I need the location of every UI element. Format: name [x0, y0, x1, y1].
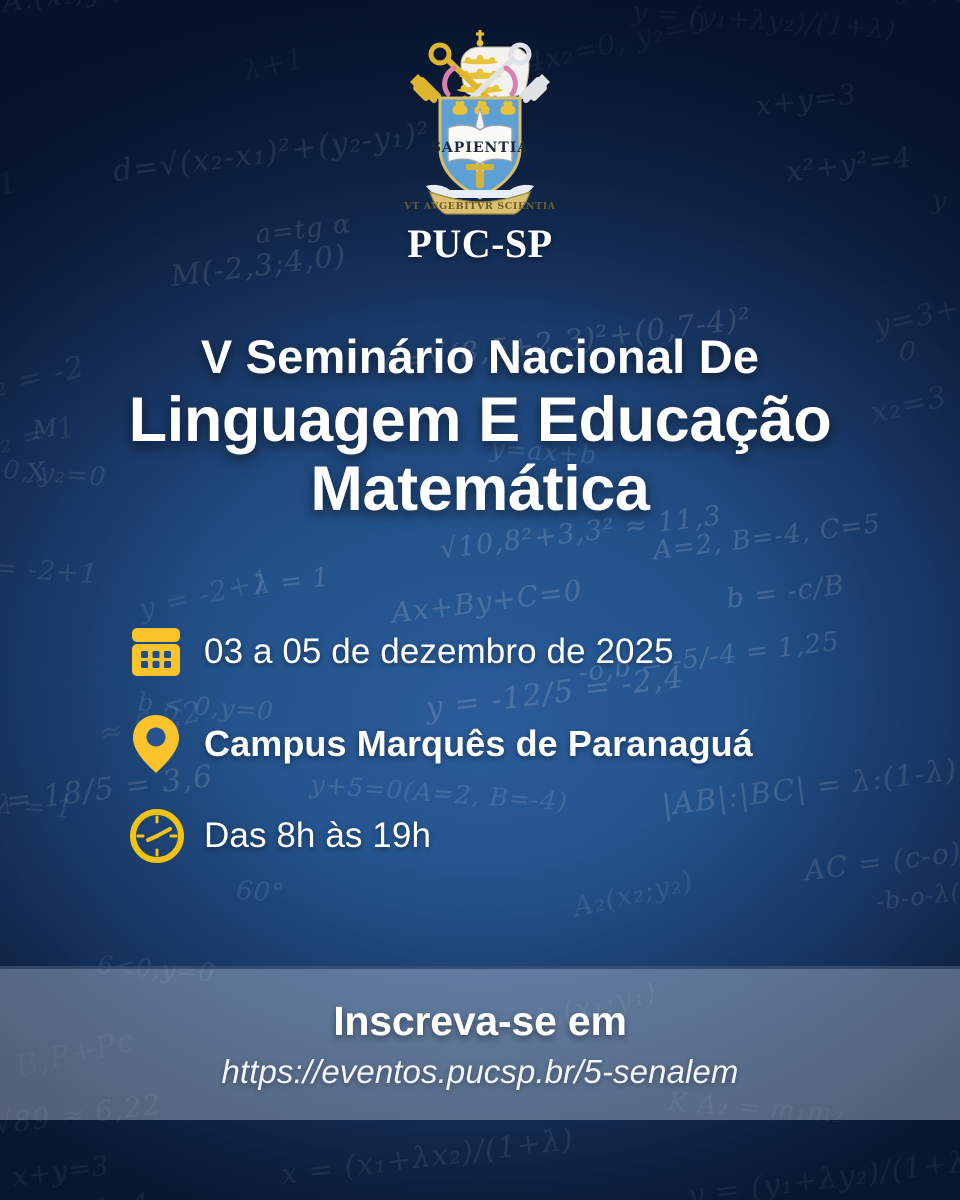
detail-text-date: 03 a 05 de dezembro de 2025 — [204, 632, 674, 672]
event-title-line-2: Linguagem E Educação — [0, 386, 960, 455]
detail-text-location: Campus Marquês de Paranaguá — [204, 723, 753, 765]
event-details-list: 03 a 05 de dezembro de 2025 Campus Marqu… — [128, 606, 900, 882]
calendar-icon — [128, 624, 204, 680]
event-title-line-3: Matemática — [0, 455, 960, 524]
clock-icon — [128, 807, 204, 865]
puc-sp-crest-icon: SAPIENTIA VT AVGEBITVR SCIENTIA — [396, 22, 564, 222]
logo-block: SAPIENTIA VT AVGEBITVR SCIENTIA PUC-SP — [0, 22, 960, 267]
detail-text-time: Das 8h às 19h — [204, 816, 431, 856]
registration-band: Inscreva-se em https://eventos.pucsp.br/… — [0, 966, 960, 1120]
title-block: V Seminário Nacional De Linguagem E Educ… — [0, 332, 960, 524]
detail-row-date: 03 a 05 de dezembro de 2025 — [128, 606, 900, 698]
svg-text:VT AVGEBITVR SCIENTIA: VT AVGEBITVR SCIENTIA — [403, 201, 556, 212]
detail-row-location: Campus Marquês de Paranaguá — [128, 698, 900, 790]
detail-row-time: Das 8h às 19h — [128, 790, 900, 882]
svg-text:SAPIENTIA: SAPIENTIA — [431, 140, 529, 156]
event-title-line-1: V Seminário Nacional De — [0, 332, 960, 382]
event-poster: A.(x₁;y₁) A₂(x₂;y₂) d=√(x₂-x₁)²+(y₂-y₁)²… — [0, 0, 960, 1200]
logo-wordmark: PUC-SP — [407, 220, 552, 267]
location-pin-icon — [128, 713, 204, 775]
registration-heading: Inscreva-se em — [333, 998, 627, 1045]
registration-url[interactable]: https://eventos.pucsp.br/5-senalem — [221, 1053, 738, 1091]
